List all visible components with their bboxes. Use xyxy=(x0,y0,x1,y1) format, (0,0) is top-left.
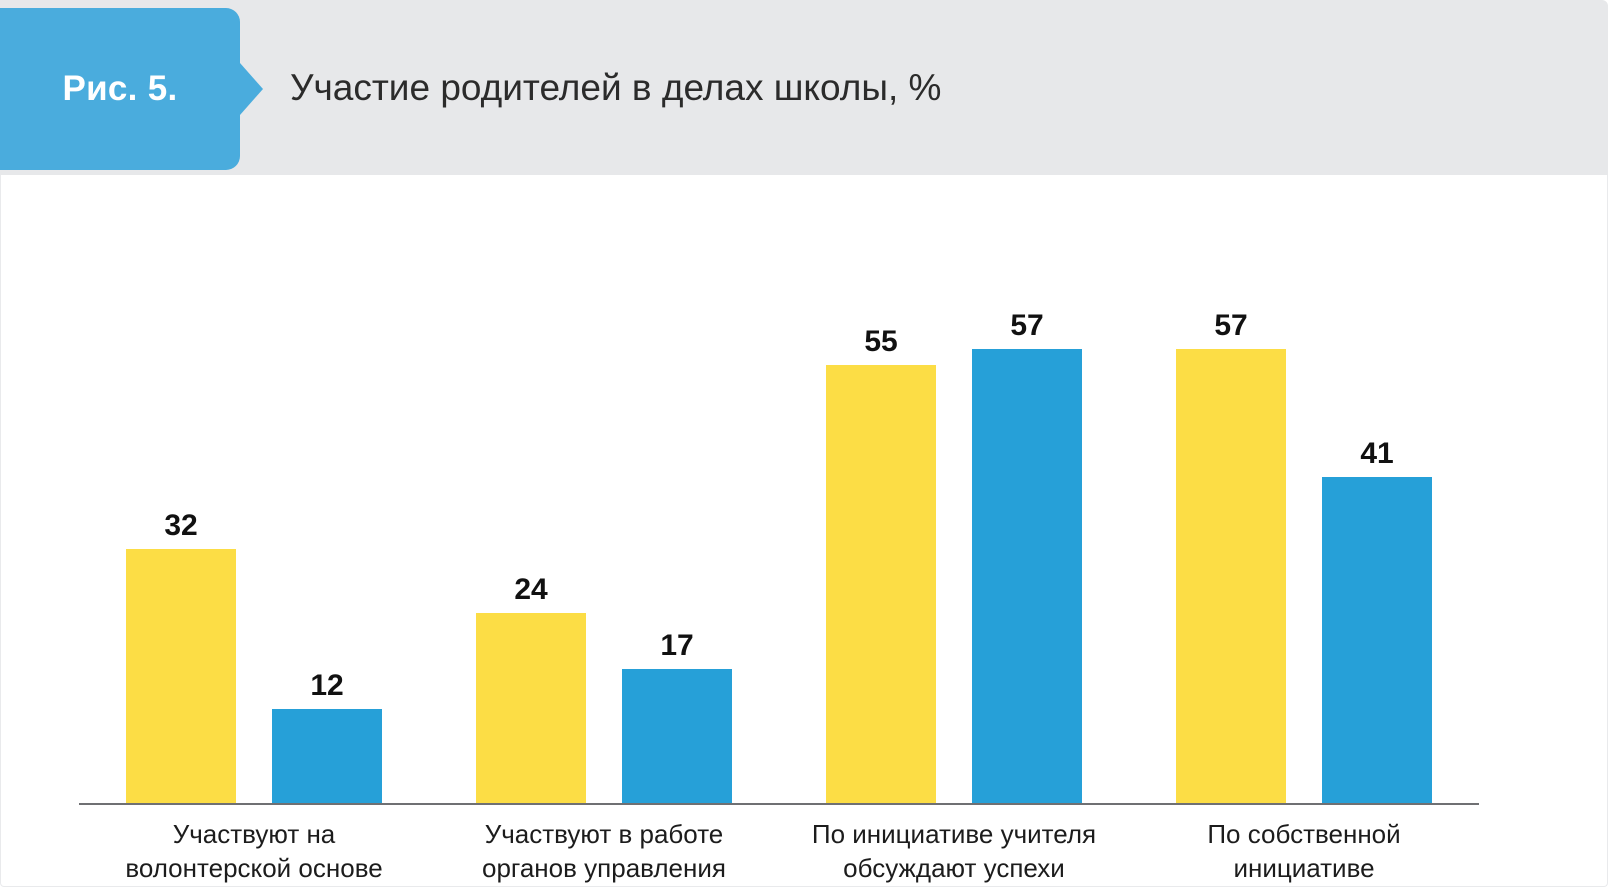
bar-group: 57 41 xyxy=(1129,203,1479,805)
label-line: волонтерской основе xyxy=(93,851,415,885)
bar-value-label: 24 xyxy=(514,575,547,605)
bar-item: 41 xyxy=(1322,203,1432,805)
bar-groups: 32 12 24 17 xyxy=(79,203,1479,805)
bar-value-label: 55 xyxy=(864,327,897,357)
x-axis-label: Участвуют в работе органов управления xyxy=(429,817,779,887)
label-line: По инициативе учителя xyxy=(793,817,1115,851)
bar-item: 32 xyxy=(126,203,236,805)
bar-item: 57 xyxy=(972,203,1082,805)
bar-group: 55 57 xyxy=(779,203,1129,805)
bar-item: 12 xyxy=(272,203,382,805)
bar-item: 55 xyxy=(826,203,936,805)
label-line: обсуждают успехи xyxy=(793,851,1115,885)
label-line: Участвуют на xyxy=(93,817,415,851)
label-line: органов управления xyxy=(443,851,765,885)
bar-value-label: 57 xyxy=(1214,311,1247,341)
label-line: Участвуют в работе xyxy=(443,817,765,851)
bar-average[interactable] xyxy=(972,349,1082,805)
page-title: Участие родителей в делах школы, % xyxy=(290,0,941,175)
bar-value-label: 17 xyxy=(660,631,693,661)
label-line: инициативе xyxy=(1143,851,1465,885)
bar-average[interactable] xyxy=(622,669,732,805)
x-axis-label: Участвуют на волонтерской основе в работ… xyxy=(79,817,429,887)
bar-value-label: 32 xyxy=(164,511,197,541)
bar-ukraine[interactable] xyxy=(476,613,586,805)
figure-page: Рис. 5. Участие родителей в делах школы,… xyxy=(0,0,1608,887)
bar-value-label: 57 xyxy=(1010,311,1043,341)
bar-group: 32 12 xyxy=(79,203,429,805)
x-axis-line xyxy=(79,803,1479,805)
plot-area: 32 12 24 17 xyxy=(79,203,1479,805)
figure-number-badge: Рис. 5. xyxy=(0,8,240,170)
bar-item: 17 xyxy=(622,203,732,805)
bar-ukraine[interactable] xyxy=(126,549,236,805)
label-line: По собственной xyxy=(1143,817,1465,851)
bar-average[interactable] xyxy=(272,709,382,805)
bar-group: 24 17 xyxy=(429,203,779,805)
badge-arrow-icon xyxy=(240,63,263,115)
bar-average[interactable] xyxy=(1322,477,1432,805)
x-axis-label: По инициативе учителя обсуждают успехи с… xyxy=(779,817,1129,887)
x-axis-label: По собственной инициативе обсуждают успе… xyxy=(1129,817,1479,887)
chart-card: 32 12 24 17 xyxy=(0,175,1608,887)
bar-value-label: 41 xyxy=(1360,439,1393,469)
figure-number-label: Рис. 5. xyxy=(62,69,177,109)
bar-ukraine[interactable] xyxy=(1176,349,1286,805)
bar-value-label: 12 xyxy=(310,671,343,701)
bar-ukraine[interactable] xyxy=(826,365,936,805)
figure-header: Рис. 5. Участие родителей в делах школы,… xyxy=(0,0,1608,175)
bar-item: 57 xyxy=(1176,203,1286,805)
bar-item: 24 xyxy=(476,203,586,805)
x-axis-labels: Участвуют на волонтерской основе в работ… xyxy=(79,817,1479,887)
